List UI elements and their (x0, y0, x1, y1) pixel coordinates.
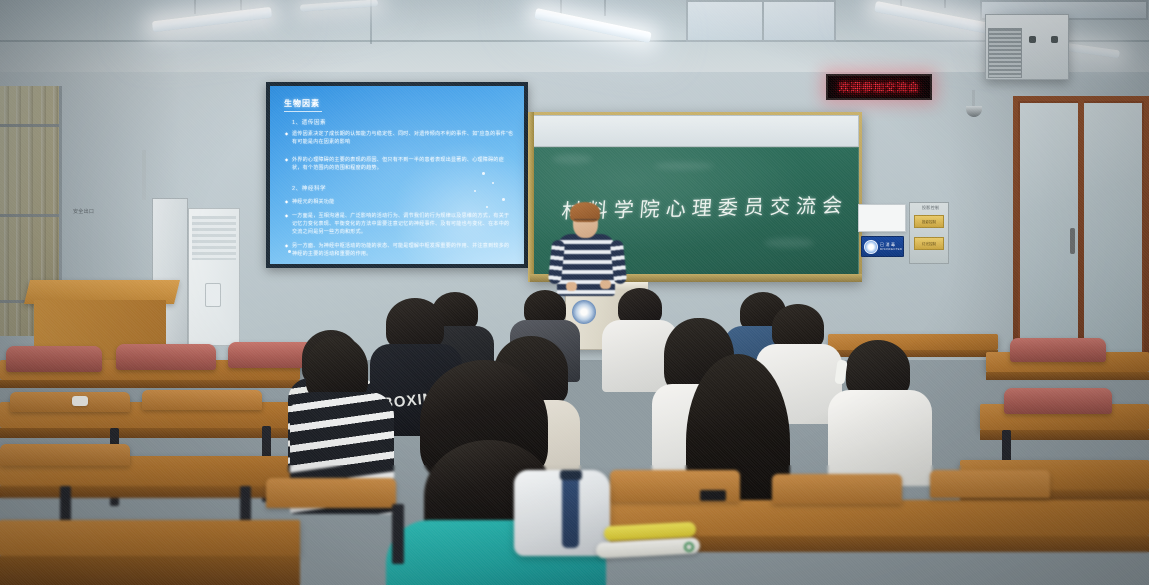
door-mullion (1078, 96, 1084, 360)
slide-decoration (486, 206, 488, 208)
presenter-hand-right (600, 280, 611, 289)
desk-edge (986, 372, 1149, 380)
ac-conduit (142, 150, 146, 200)
slide-title: 生物因素 (284, 98, 320, 109)
seat-back (116, 344, 216, 370)
slide-decoration (502, 198, 505, 201)
slide-decoration (492, 182, 494, 184)
air-conditioner-grille-icon (988, 28, 1022, 78)
seat-wood-left-front (266, 478, 396, 508)
slide-decoration (482, 172, 485, 175)
left-wall-sign-label: 安全出口 (73, 208, 94, 215)
presentation-slide: 生物因素 1、遗传因素 遗传因素决定了成长期的认知能力与稳定性、同时、对遗传倾向… (270, 86, 524, 264)
control-panel-title: 投影控制 (922, 205, 939, 211)
control-panel-plate-projector[interactable]: 投影控制 (914, 215, 944, 228)
seat-back (6, 346, 102, 372)
presenter-hand-left (566, 282, 577, 291)
blackboard-chalk-heading: 材料学院心理委员交流会 (560, 189, 849, 224)
seat-wood-front (930, 470, 1050, 498)
classroom-photo: 欢迎参加交流会 生物因素 1、遗传因素 遗传因素决定了成长期的认知能力与稳定性、… (0, 0, 1149, 585)
seat-wood-top (0, 444, 130, 466)
led-marquee-display: 欢迎参加交流会 (826, 74, 932, 100)
seat-back (1010, 338, 1106, 362)
light-suspension-rod (240, 0, 242, 10)
ac-control-display (205, 283, 221, 307)
seal-icon (864, 240, 878, 254)
seat-wood-top (10, 392, 130, 412)
light-suspension-rod (194, 0, 196, 14)
door-handle[interactable] (1070, 228, 1075, 254)
tissue-on-desk (72, 396, 88, 406)
led-pixel-grid (828, 76, 930, 98)
slide-bullet: 一方面是，互相沟通是、广泛影响的活动行为、调节我们的行为规律以及思维的方式，有关… (292, 212, 514, 236)
desk-leg (392, 504, 404, 564)
clerestory-window (686, 0, 836, 42)
slide-sub-heading: 神经元的相关功能 (292, 198, 514, 206)
desk-row-1-left (0, 520, 300, 556)
desk-edge (0, 380, 300, 388)
student-body-mid-5 (828, 390, 932, 486)
backpack-strap (562, 474, 579, 548)
desk-edge (0, 556, 300, 585)
slide-section-2: 2、神经科学 (292, 184, 326, 192)
control-plate-label: 灯光控制 (915, 242, 943, 247)
desk-edge (0, 428, 320, 438)
desk-row-far (828, 334, 998, 350)
ac-vent-louvers-icon (192, 216, 236, 260)
av-control-panel[interactable]: 投影控制 灯光控制 (909, 202, 949, 264)
backpack-buckle (560, 470, 582, 480)
slide-bullet: 另一方面、为神经中枢活动的功能的状态、可能是理解中枢发挥重要的作用、并注意到较多… (292, 242, 514, 258)
slide-decoration (474, 190, 476, 192)
seat-wood-front (772, 474, 902, 504)
wall-notice-paper (858, 204, 906, 232)
disinfected-sign-line2: DISINFECTED (880, 247, 902, 252)
disinfected-sign: 已 消 毒 DISINFECTED (861, 236, 904, 257)
blackboard-upper-panel (533, 115, 859, 147)
ac-vent-dot (1051, 36, 1058, 43)
light-suspension-rod (604, 0, 606, 16)
control-panel-plate-lights[interactable]: 灯光控制 (914, 237, 944, 250)
seat-wood-top (142, 390, 262, 410)
slide-bullet: 遗传因素决定了成长期的认知能力与稳定性、同时、对遗传倾向不利的事件、如“应急的事… (292, 130, 514, 146)
student-head-mid-2 (386, 298, 444, 350)
phone-on-desk[interactable] (700, 490, 726, 501)
desk-edge (0, 486, 300, 498)
light-suspension-rod (944, 0, 946, 8)
seat-back (1004, 388, 1112, 414)
slide-bullet: 外界的心理障碍的主要的表现的原因、但只有不到一半的患者表现出显著的、心理障碍的症… (292, 156, 514, 172)
ac-vent-dot (1029, 36, 1036, 43)
control-plate-label: 投影控制 (915, 220, 943, 225)
slide-section-1: 1、遗传因素 (292, 118, 326, 126)
poster-label-icon (684, 542, 694, 552)
projection-screen: 生物因素 1、遗传因素 遗传因素决定了成长期的认知能力与稳定性、同时、对遗传倾向… (266, 82, 528, 268)
eyeglasses-icon (574, 219, 597, 224)
slide-decoration (288, 250, 291, 253)
blackboard-divider (528, 112, 534, 282)
student-head-front-left (306, 336, 368, 400)
